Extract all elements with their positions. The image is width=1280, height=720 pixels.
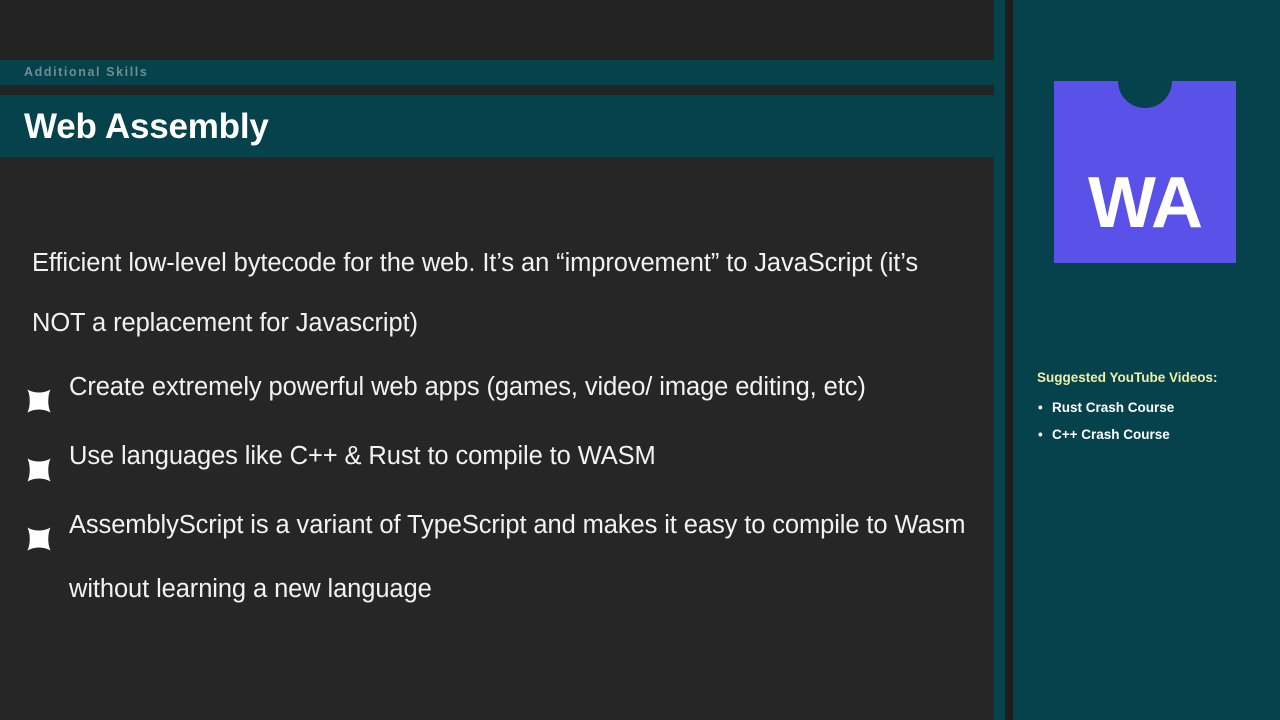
list-item-label: C++ Crash Course — [1052, 427, 1170, 442]
slide-title-bar: Web Assembly — [0, 95, 994, 157]
section-eyebrow-bar: Additional Skills — [0, 60, 994, 85]
bullet-dot-icon: • — [1038, 421, 1043, 448]
presentation-slide: Additional Skills Web Assembly Efficient… — [0, 0, 1280, 720]
header-bar-gap — [0, 85, 994, 95]
svg-text:WA: WA — [1088, 163, 1202, 243]
list-item-label: AssemblyScript is a variant of TypeScrip… — [69, 511, 965, 603]
list-item-label: Rust Crash Course — [1052, 400, 1174, 415]
list-item: Create extremely powerful web apps (game… — [26, 355, 971, 419]
page-title: Web Assembly — [24, 109, 269, 144]
slide-body: Efficient low-level bytecode for the web… — [0, 157, 994, 720]
top-dark-strip — [0, 0, 994, 60]
suggested-videos-heading: Suggested YouTube Videos: — [1037, 370, 1272, 386]
list-item: Use languages like C++ & Rust to compile… — [26, 424, 971, 488]
intro-paragraph: Efficient low-level bytecode for the web… — [32, 233, 962, 353]
list-item-label: Use languages like C++ & Rust to compile… — [69, 442, 656, 470]
astroid-bullet-icon — [26, 374, 52, 400]
astroid-bullet-icon — [26, 512, 52, 538]
main-content-column: Additional Skills Web Assembly Efficient… — [0, 0, 994, 720]
sidebar: WA Suggested YouTube Videos: • Rust Cras… — [1013, 0, 1280, 720]
list-item[interactable]: • Rust Crash Course — [1037, 394, 1272, 421]
bullet-list: Create extremely powerful web apps (game… — [26, 355, 971, 626]
suggested-videos-block: Suggested YouTube Videos: • Rust Crash C… — [1037, 370, 1272, 448]
list-item[interactable]: • C++ Crash Course — [1037, 421, 1272, 448]
astroid-bullet-icon — [26, 443, 52, 469]
list-item: AssemblyScript is a variant of TypeScrip… — [26, 493, 971, 621]
list-item-label: Create extremely powerful web apps (game… — [69, 373, 866, 401]
bullet-dot-icon: • — [1038, 394, 1043, 421]
suggested-videos-list: • Rust Crash Course • C++ Crash Course — [1037, 394, 1272, 448]
dark-column-divider — [1005, 0, 1013, 720]
webassembly-logo-icon: WA — [1054, 81, 1236, 263]
teal-gutter-divider — [994, 0, 1005, 720]
section-eyebrow-label: Additional Skills — [24, 66, 148, 79]
